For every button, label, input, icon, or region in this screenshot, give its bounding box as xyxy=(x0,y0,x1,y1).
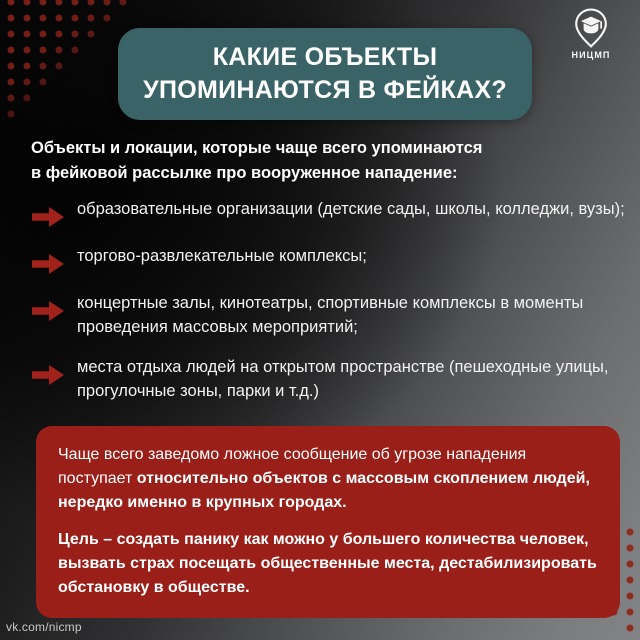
decorative-dot xyxy=(574,620,590,636)
brand-logo: НИЦМП xyxy=(560,8,622,60)
decorative-dot xyxy=(19,42,35,58)
decorative-dot xyxy=(542,620,558,636)
callout-paragraph-1: Чаще всего заведомо ложное сообщение об … xyxy=(58,443,598,515)
decorative-dot xyxy=(51,42,67,58)
objects-list: образовательные организации (детские сад… xyxy=(31,196,627,418)
list-item-label: образовательные организации (детские сад… xyxy=(77,196,625,221)
decorative-dot xyxy=(590,620,606,636)
decorative-dot xyxy=(19,26,35,42)
decorative-dot xyxy=(3,74,19,90)
decorative-dot xyxy=(99,0,115,10)
decorative-dot xyxy=(99,90,115,106)
decorative-dot xyxy=(51,58,67,74)
decorative-dot xyxy=(622,524,638,540)
decorative-dot xyxy=(83,74,99,90)
decorative-dot xyxy=(83,42,99,58)
callout-paragraph-2: Цель – создать панику как можно у больше… xyxy=(58,528,598,600)
decorative-dot xyxy=(622,604,638,620)
decorative-dot xyxy=(83,106,99,122)
decorative-dot xyxy=(510,620,526,636)
list-item: места отдыха людей на открытом пространс… xyxy=(31,354,627,404)
decorative-dot xyxy=(51,26,67,42)
right-arrow-icon xyxy=(31,363,71,387)
decorative-dot xyxy=(67,58,83,74)
decorative-dot xyxy=(606,620,622,636)
decorative-dot xyxy=(83,90,99,106)
decorative-dot xyxy=(3,106,19,122)
decorative-dot xyxy=(67,10,83,26)
decorative-dot xyxy=(99,58,115,74)
decorative-dot xyxy=(99,106,115,122)
list-item-label: торгово-развлекательные комплексы; xyxy=(77,243,367,268)
decorative-dot xyxy=(99,26,115,42)
decorative-dot xyxy=(35,90,51,106)
decorative-dot xyxy=(19,106,35,122)
decorative-dot xyxy=(35,58,51,74)
list-item-label: концертные залы, кинотеатры, спортивные … xyxy=(77,290,627,340)
page-title-line-1: КАКИЕ ОБЪЕКТЫ xyxy=(213,41,438,74)
decorative-dot xyxy=(67,26,83,42)
decorative-dot xyxy=(3,42,19,58)
list-item: концертные залы, кинотеатры, спортивные … xyxy=(31,290,627,340)
decorative-dot xyxy=(526,620,542,636)
callout-paragraph-1-bold: относительно объектов с массовым скоплен… xyxy=(58,470,590,511)
decorative-dot xyxy=(99,42,115,58)
decorative-dot xyxy=(622,620,638,636)
decorative-dot xyxy=(3,0,19,10)
header-title-banner: КАКИЕ ОБЪЕКТЫ УПОМИНАЮТСЯ В ФЕЙКАХ? xyxy=(118,28,532,120)
decorative-dot xyxy=(83,10,99,26)
decorative-dot xyxy=(51,10,67,26)
decorative-dot xyxy=(622,572,638,588)
brand-logo-text: НИЦМП xyxy=(560,50,622,60)
decorative-dot xyxy=(67,90,83,106)
decorative-dot xyxy=(67,42,83,58)
decorative-dot xyxy=(19,0,35,10)
decorative-dot xyxy=(51,90,67,106)
decorative-dot xyxy=(83,58,99,74)
decorative-dot xyxy=(3,26,19,42)
decorative-dot xyxy=(99,10,115,26)
decorative-dot xyxy=(622,540,638,556)
decorative-dot xyxy=(622,588,638,604)
decorative-dot xyxy=(19,90,35,106)
decorative-dot xyxy=(83,0,99,10)
intro-line-1: Объекты и локации, которые чаще всего уп… xyxy=(31,136,611,161)
decorative-dot xyxy=(622,556,638,572)
decorative-dot xyxy=(115,0,131,10)
list-item: образовательные организации (детские сад… xyxy=(31,196,627,229)
decorative-dot xyxy=(35,106,51,122)
infographic-poster: НИЦМП КАКИЕ ОБЪЕКТЫ УПОМИНАЮТСЯ В ФЕЙКАХ… xyxy=(0,0,640,640)
decorative-dot xyxy=(99,74,115,90)
decorative-dot xyxy=(67,0,83,10)
decorative-dot xyxy=(51,74,67,90)
decorative-dot xyxy=(67,106,83,122)
map-pin-graduation-cap-icon xyxy=(560,8,622,48)
page-title-line-2: УПОМИНАЮТСЯ В ФЕЙКАХ? xyxy=(143,74,507,107)
decorative-dots-top-left xyxy=(3,0,131,122)
decorative-dot xyxy=(83,26,99,42)
right-arrow-icon xyxy=(31,252,71,276)
decorative-dot xyxy=(3,58,19,74)
decorative-dot xyxy=(19,74,35,90)
decorative-dot xyxy=(35,10,51,26)
right-arrow-icon xyxy=(31,205,71,229)
decorative-dot xyxy=(67,74,83,90)
decorative-dot xyxy=(19,58,35,74)
decorative-dot xyxy=(3,90,19,106)
decorative-dot xyxy=(558,620,574,636)
decorative-dot xyxy=(19,10,35,26)
decorative-dot xyxy=(3,10,19,26)
decorative-dot xyxy=(51,106,67,122)
callout-box: Чаще всего заведомо ложное сообщение об … xyxy=(36,426,620,618)
list-item-label: места отдыха людей на открытом пространс… xyxy=(77,354,627,404)
watermark-link: vk.com/nicmp xyxy=(6,620,82,634)
right-arrow-icon xyxy=(31,299,71,323)
decorative-dot xyxy=(35,74,51,90)
decorative-dot xyxy=(35,26,51,42)
intro-line-2: в фейковой рассылке про вооруженное напа… xyxy=(31,161,611,186)
decorative-dot xyxy=(35,0,51,10)
list-item: торгово-развлекательные комплексы; xyxy=(31,243,627,276)
decorative-dot xyxy=(115,10,131,26)
decorative-dot xyxy=(35,42,51,58)
decorative-dot xyxy=(51,0,67,10)
intro-text: Объекты и локации, которые чаще всего уп… xyxy=(31,136,611,186)
